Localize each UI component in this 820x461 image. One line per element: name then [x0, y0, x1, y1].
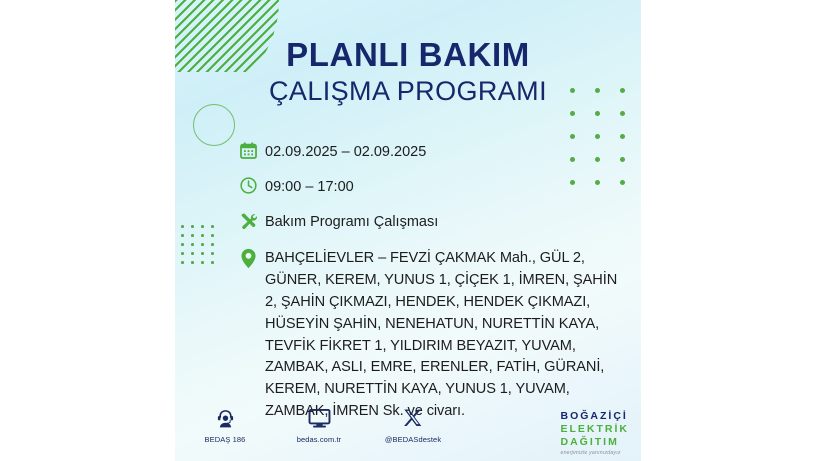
tools-icon	[239, 211, 265, 233]
logo-line-dagitim: DAĞITIM	[561, 436, 630, 449]
logo-tagline: enerjimizle yanınızdayız	[561, 450, 630, 456]
info-row-address: BAHÇELİEVLER – FEVZİ ÇAKMAK Mah., GÜL 2,…	[239, 247, 629, 423]
time-range-text: 09:00 – 17:00	[265, 177, 354, 197]
circle-outline-decoration	[193, 104, 235, 146]
contact-channels: BEDAŞ 186 bedas.com.tr	[191, 404, 447, 444]
bedas-logo: BOĞAZİÇİ ELEKTRİK DAĞITIM enerjimizle ya…	[561, 410, 630, 456]
calendar-icon	[239, 141, 265, 163]
headset-support-icon	[191, 404, 259, 432]
date-range-text: 02.09.2025 – 02.09.2025	[265, 142, 426, 162]
location-pin-icon	[239, 248, 265, 270]
poster-footer: BEDAŞ 186 bedas.com.tr	[175, 404, 641, 461]
info-row-date: 02.09.2025 – 02.09.2025	[239, 142, 629, 163]
dot-grid-left-decoration	[181, 225, 221, 270]
contact-phone-label: BEDAŞ 186	[191, 435, 259, 444]
clock-icon	[239, 176, 265, 198]
page-subtitle: ÇALIŞMA PROGRAMI	[175, 76, 641, 107]
info-row-time: 09:00 – 17:00	[239, 177, 629, 198]
planned-maintenance-poster: PLANLI BAKIM ÇALIŞMA PROGRAMI 02	[175, 0, 641, 461]
logo-line-elektrik: ELEKTRİK	[561, 423, 630, 436]
contact-social[interactable]: @BEDASdestek	[379, 404, 447, 444]
info-list: 02.09.2025 – 02.09.2025 09:00 – 17:00 Ba…	[239, 142, 629, 423]
poster-header: PLANLI BAKIM ÇALIŞMA PROGRAMI	[175, 38, 641, 107]
contact-phone[interactable]: BEDAŞ 186	[191, 404, 259, 444]
info-row-worktype: Bakım Programı Çalışması	[239, 212, 629, 233]
logo-line-bogazici: BOĞAZİÇİ	[561, 410, 630, 423]
contact-website-label: bedas.com.tr	[285, 435, 353, 444]
page-title: PLANLI BAKIM	[175, 38, 641, 73]
contact-website[interactable]: bedas.com.tr	[285, 404, 353, 444]
address-text: BAHÇELİEVLER – FEVZİ ÇAKMAK Mah., GÜL 2,…	[265, 247, 629, 423]
work-type-text: Bakım Programı Çalışması	[265, 212, 438, 232]
x-twitter-icon	[379, 404, 447, 432]
contact-social-label: @BEDASdestek	[379, 435, 447, 444]
monitor-icon	[285, 404, 353, 432]
